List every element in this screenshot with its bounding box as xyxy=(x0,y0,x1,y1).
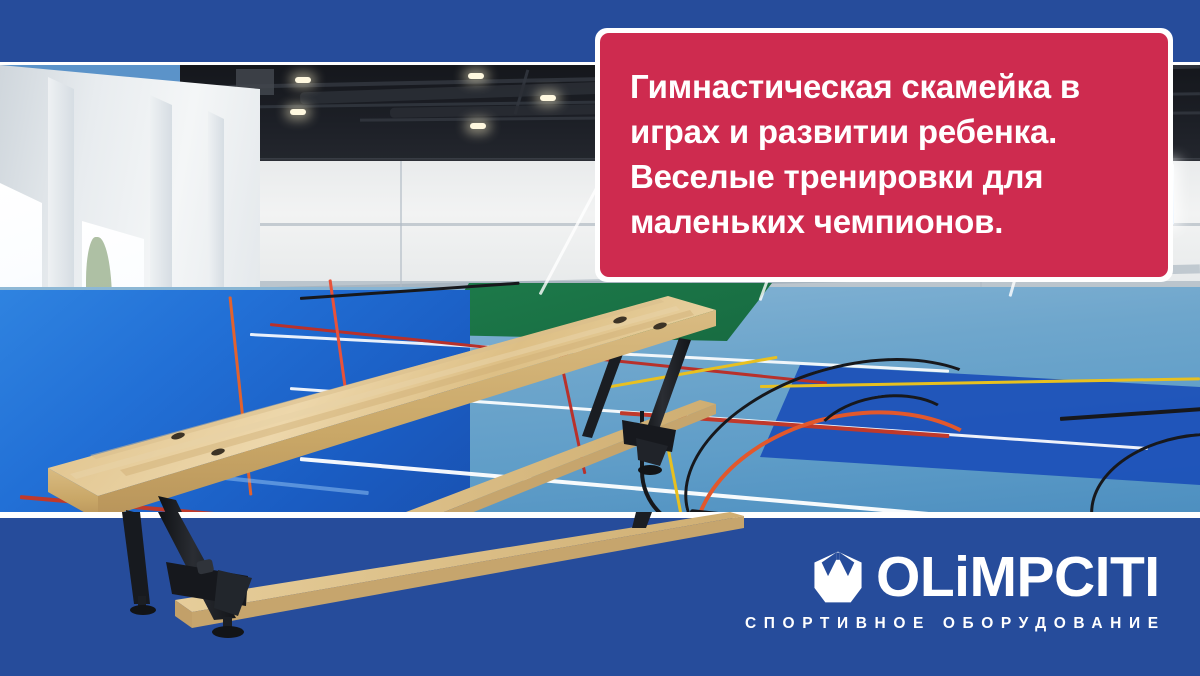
headline-card: Гимнастическая скамейка в играх и развит… xyxy=(595,28,1173,282)
ceiling-light xyxy=(290,109,306,115)
ceiling-light xyxy=(295,77,311,83)
bench-foot-pad-left-below xyxy=(212,626,244,638)
bench-lower-rail-below xyxy=(175,512,744,612)
headline-text: Гимнастическая скамейка в играх и развит… xyxy=(600,65,1168,245)
logo-tagline: СПОРТИВНОЕ ОБОРУДОВАНИЕ xyxy=(745,615,1166,633)
olimpciti-hexagon-mark xyxy=(809,548,867,606)
logo-wordmark: OLiMPCITI xyxy=(876,549,1160,606)
bench-foot-pad-back-below xyxy=(130,605,156,615)
bench-leg-near-back-below xyxy=(122,512,150,604)
logo-row: OLiMPCITI xyxy=(809,548,1160,606)
promo-banner: Гимнастическая скамейка в играх и развит… xyxy=(0,0,1200,676)
bench-lower-rail-under-below xyxy=(192,516,744,628)
logo[interactable]: OLiMPCITI СПОРТИВНОЕ ОБОРУДОВАНИЕ xyxy=(745,548,1160,633)
ceiling-light xyxy=(470,123,486,129)
ceiling-light xyxy=(468,73,484,79)
hanging-cable xyxy=(640,411,800,512)
headline-card-inner: Гимнастическая скамейка в играх и развит… xyxy=(600,33,1168,277)
green-floor-mat xyxy=(437,283,772,341)
ceiling-light xyxy=(540,95,556,101)
